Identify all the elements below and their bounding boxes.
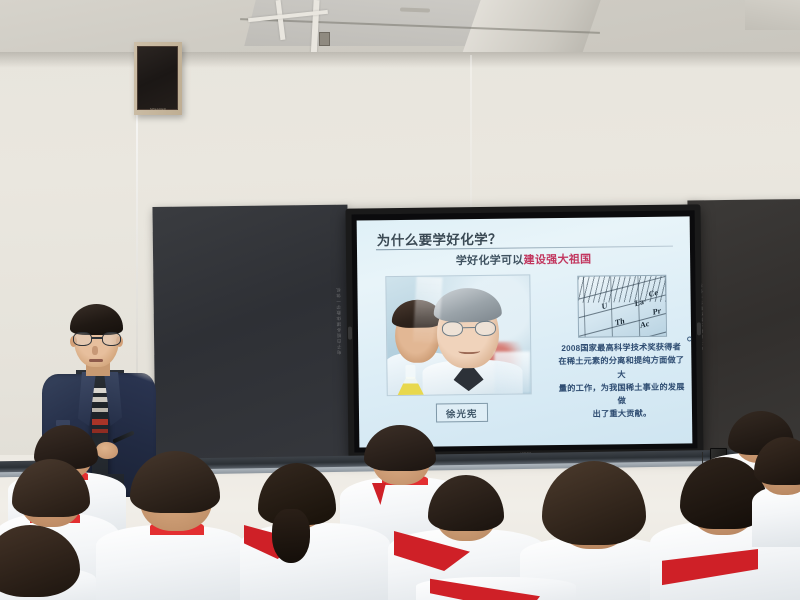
ceiling [0, 0, 800, 60]
flask-neck [405, 365, 415, 379]
periodic-table-grid [577, 275, 667, 338]
photo-blurred-white-object [494, 351, 531, 393]
teacher-nose [92, 346, 98, 355]
interactive-display[interactable]: HDMI 为什么要学好化学？ 学好化学可以建设强大祖国 [345, 204, 703, 458]
wall-speaker: SPEAKER [134, 42, 182, 115]
slide-subtitle: 学好化学可以建设强大祖国 [357, 249, 690, 269]
slide-caption: 2008国家最高科学技术奖获得者 在稀土元素的分离和提纯方面做了大 量的工作，为… [554, 340, 689, 421]
ceiling-duct [745, 0, 800, 30]
caption-line-4: 出了重大贡献。 [555, 407, 689, 422]
student-audience [0, 425, 800, 600]
slide-title: 为什么要学好化学？ [377, 228, 502, 250]
glasses-left-lens [442, 321, 463, 336]
speaker-brand-label: SPEAKER [150, 107, 166, 111]
caption-line-3: 量的工作，为我国稀土事业的发展做 [555, 380, 689, 408]
wall-top-shadow [0, 52, 800, 68]
teacher-hair [70, 304, 123, 335]
photo-elder-scientist-glasses [442, 321, 496, 337]
display-right-button[interactable] [697, 322, 701, 335]
conduit-junction-box [319, 32, 330, 46]
presentation-slide[interactable]: 为什么要学好化学？ 学好化学可以建设强大祖国 [357, 216, 693, 447]
flask-body [396, 377, 426, 396]
photo-glare [413, 276, 443, 343]
periodic-cell-u: U [601, 301, 607, 311]
caption-line-2: 在稀土元素的分离和提纯方面做了大 [554, 354, 688, 382]
student-hair [542, 461, 646, 545]
glasses-bridge [463, 327, 475, 329]
scientists-photo [385, 274, 531, 396]
periodic-table-image: La Ce Pr Ac Th U [577, 275, 667, 338]
eyeglass-left-lens [73, 332, 92, 346]
student-hair [130, 451, 220, 513]
eyeglass-right-lens [102, 332, 121, 346]
display-left-button[interactable] [348, 327, 352, 340]
student-ponytail [272, 509, 310, 563]
scientist-name-label: 徐光宪 [436, 403, 488, 423]
photo-lab-flask [395, 365, 425, 396]
student-shirt [752, 487, 800, 547]
periodic-cell-pr: Pr [653, 306, 662, 317]
teacher-mouth [89, 359, 103, 362]
student-hair [364, 425, 436, 471]
speaker-grille-icon [137, 46, 178, 110]
student-shirt [96, 525, 246, 600]
eyeglass-bridge [92, 337, 102, 339]
teacher-eyeglasses [73, 332, 121, 346]
left-panel-vertical-label: 电子白板多媒体教学一体机 [335, 287, 342, 355]
display-screen[interactable]: 为什么要学好化学？ 学好化学可以建设强大祖国 [352, 210, 698, 452]
glasses-right-lens [475, 321, 496, 336]
classroom-scene: SPEAKER 电子白板多媒体教学一体机 电子白板多媒体教学一体机 HDMI 为… [0, 0, 800, 600]
slide-subtitle-plain: 学好化学可以 [456, 254, 524, 267]
slide-subtitle-highlight: 建设强大祖国 [524, 254, 592, 267]
